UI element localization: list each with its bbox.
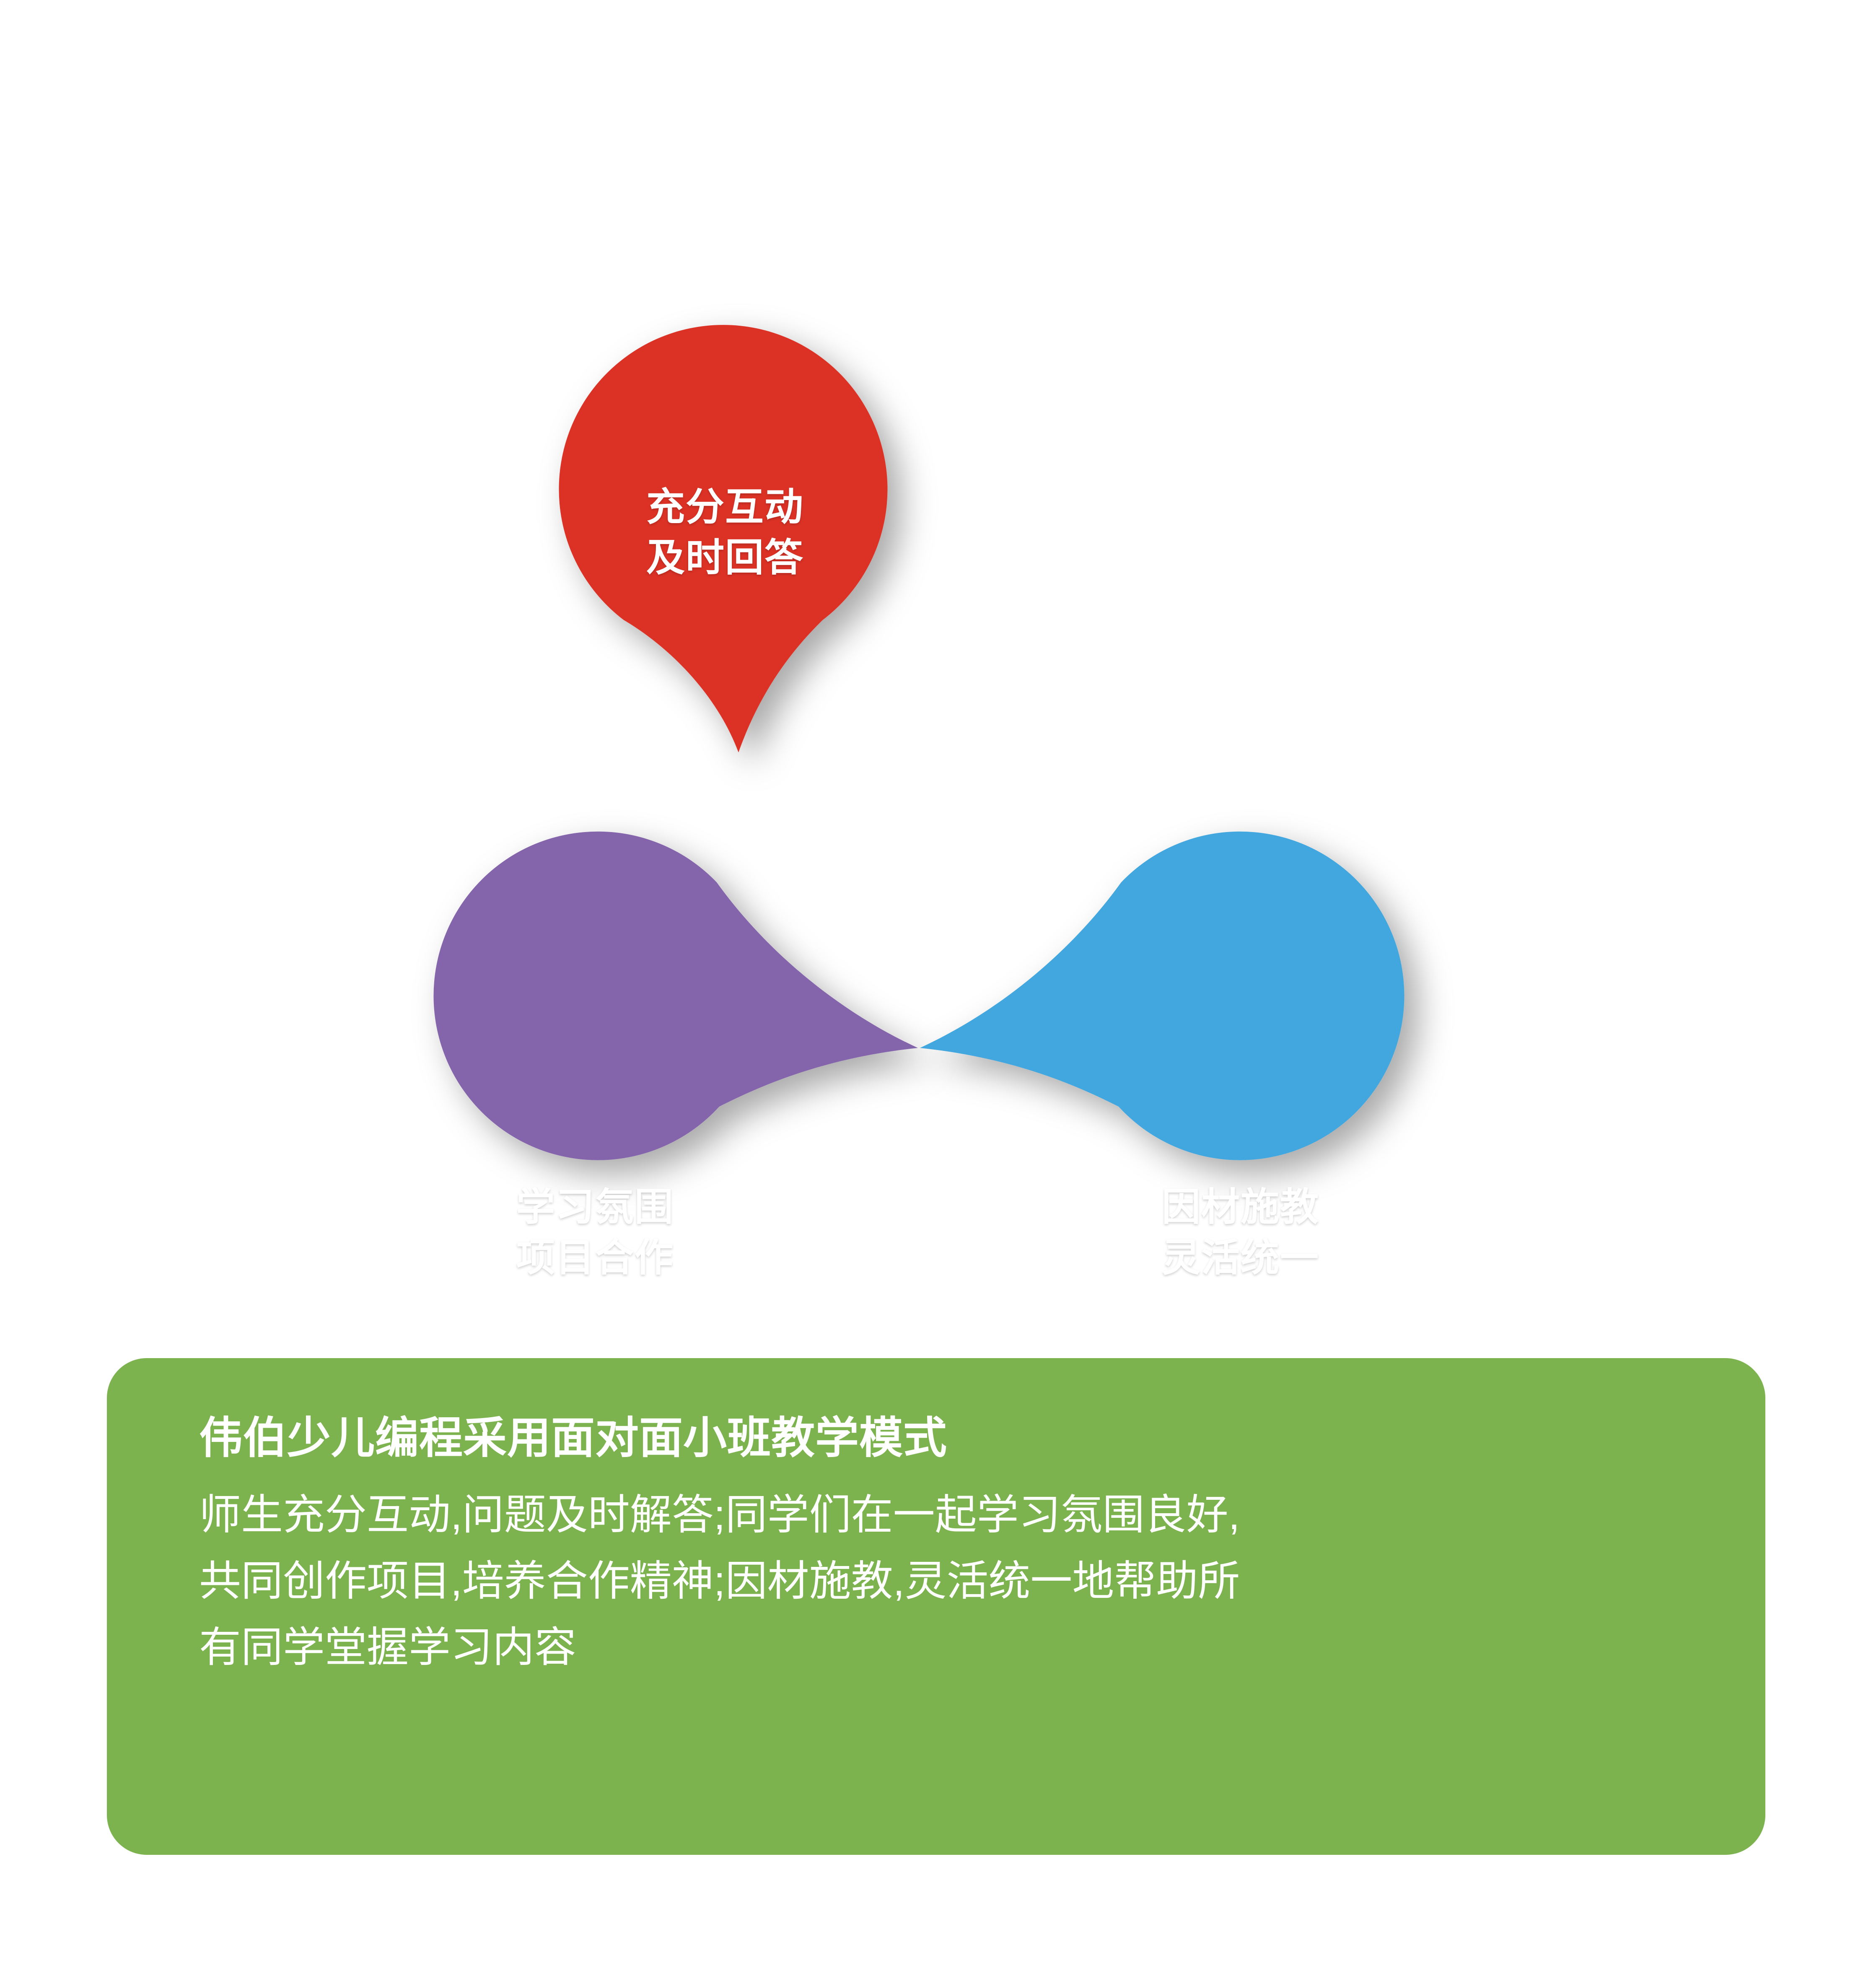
petal-shape-purple[interactable] xyxy=(433,832,918,1160)
petal-label-purple: 学习氛围 项目合作 xyxy=(428,1182,763,1284)
petal-shape-blue[interactable] xyxy=(920,832,1404,1160)
petal-label-red-line-1: 充分互动 xyxy=(557,482,893,533)
caption-body-line-1: 师生充分互动,问题及时解答;同学们在一起学习氛围良好, xyxy=(199,1482,1694,1548)
petal-label-blue-line-2: 灵活统一 xyxy=(1073,1233,1408,1284)
caption-headline: 伟伯少儿编程采用面对面小班教学模式 xyxy=(199,1413,1694,1464)
caption-body-line-3: 有同学堂握学习内容 xyxy=(199,1614,1694,1680)
caption-card: 伟伯少儿编程采用面对面小班教学模式 师生充分互动,问题及时解答;同学们在一起学习… xyxy=(107,1358,1765,1855)
petal-label-blue: 因材施教 灵活统一 xyxy=(1073,1182,1408,1284)
petal-label-purple-line-1: 学习氛围 xyxy=(428,1182,763,1233)
petal-label-red-line-2: 及时回答 xyxy=(557,533,893,583)
petal-label-red: 充分互动 及时回答 xyxy=(557,482,893,584)
caption-body: 师生充分互动,问题及时解答;同学们在一起学习氛围良好, 共同创作项目,培养合作精… xyxy=(199,1482,1694,1680)
petal-label-blue-line-1: 因材施教 xyxy=(1073,1182,1408,1233)
diagram-canvas: 充分互动 及时回答 学习氛围 项目合作 因材施教 灵活统一 伟伯少儿编程采用面对… xyxy=(0,0,1876,1981)
petal-label-purple-line-2: 项目合作 xyxy=(428,1233,763,1284)
caption-body-line-2: 共同创作项目,培养合作精神;因材施教,灵活统一地帮助所 xyxy=(199,1548,1694,1614)
